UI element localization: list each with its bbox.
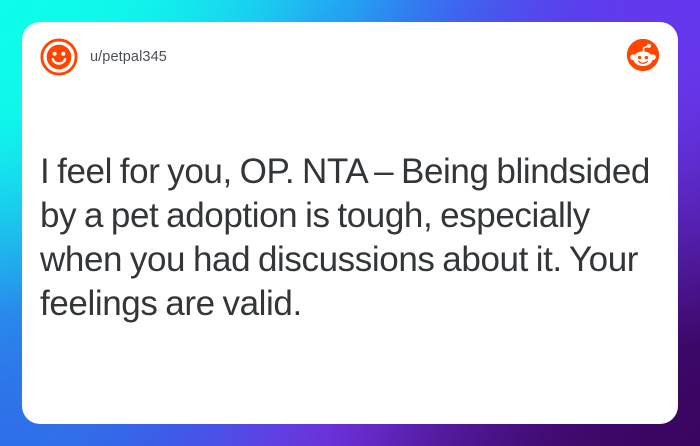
screenshot-root: u/petpal345 <box>0 0 700 446</box>
reddit-comment-card: u/petpal345 <box>22 22 678 424</box>
card-header: u/petpal345 <box>22 22 678 100</box>
reddit-snoo-logo-icon[interactable] <box>626 38 660 72</box>
author-block[interactable]: u/petpal345 <box>40 38 167 76</box>
author-username: u/petpal345 <box>90 49 167 65</box>
smiley-face-avatar-icon[interactable] <box>40 38 78 76</box>
comment-text: I feel for you, OP. NTA – Being blindsid… <box>40 150 662 326</box>
